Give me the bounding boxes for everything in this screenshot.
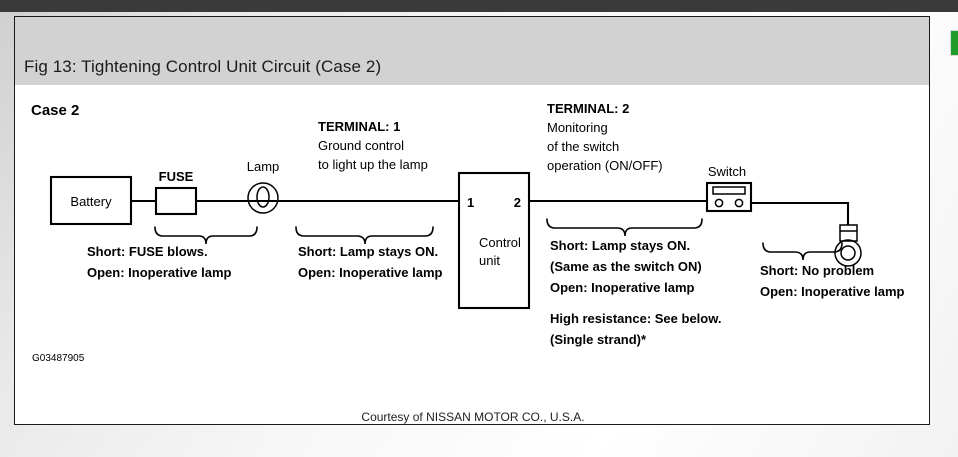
courtesy-notice: Courtesy of NISSAN MOTOR CO., U.S.A.: [15, 410, 930, 424]
fuse-label: FUSE: [159, 169, 194, 184]
switch-annotation-line-3: Open: Inoperative lamp: [550, 280, 695, 295]
figure-panel: Fig 13: Tightening Control Unit Circuit …: [14, 16, 930, 425]
ground-bolt-head-icon: [840, 225, 857, 241]
terminal1-line3: to light up the lamp: [318, 157, 428, 172]
ground-annotation-line-1: Short: No problem: [760, 263, 874, 278]
fuse-box: [156, 188, 196, 214]
browser-viewport: Fig 13: Tightening Control Unit Circuit …: [0, 0, 958, 457]
brace-fuse-section: [155, 227, 257, 244]
terminal2-line4: operation (ON/OFF): [547, 158, 663, 173]
circuit-diagram: Case 2 Battery FUSE Lamp TERMINAL: 1 G: [15, 85, 930, 425]
brace-ground-section: [763, 243, 842, 260]
fuse-annotation-line-1: Short: FUSE blows.: [87, 244, 208, 259]
terminal2-line2: Monitoring: [547, 120, 608, 135]
lamp-annotation-line-2: Open: Inoperative lamp: [298, 265, 443, 280]
brace-lamp-section: [296, 227, 433, 244]
terminal2-line3: of the switch: [547, 139, 619, 154]
lamp-label: Lamp: [247, 159, 280, 174]
window-top-bar: [0, 0, 958, 12]
figure-body: Case 2 Battery FUSE Lamp TERMINAL: 1 G: [15, 85, 929, 425]
control-unit-label-line1: Control: [479, 235, 521, 250]
lamp-annotation-line-1: Short: Lamp stays ON.: [298, 244, 438, 259]
wire-switch-to-ground: [751, 203, 848, 225]
green-edge-tab[interactable]: [950, 30, 958, 56]
control-unit-label-line2: unit: [479, 253, 500, 268]
figure-title: Fig 13: Tightening Control Unit Circuit …: [24, 57, 381, 77]
brace-switch-section: [547, 219, 702, 236]
switch-annotation-line-2: (Same as the switch ON): [550, 259, 702, 274]
ground-ring-inner-icon: [841, 246, 855, 260]
switch-extra-line-2: (Single strand)*: [550, 332, 647, 347]
lamp-filament-icon: [257, 187, 269, 207]
control-unit-pin-1: 1: [467, 195, 474, 210]
terminal2-heading: TERMINAL: 2: [547, 101, 629, 116]
control-unit-pin-2: 2: [514, 195, 521, 210]
battery-label: Battery: [70, 194, 112, 209]
fuse-annotation-line-2: Open: Inoperative lamp: [87, 265, 232, 280]
case-label: Case 2: [31, 102, 79, 119]
ground-annotation-line-2: Open: Inoperative lamp: [760, 284, 905, 299]
terminal1-line2: Ground control: [318, 138, 404, 153]
switch-label: Switch: [708, 164, 746, 179]
terminal1-heading: TERMINAL: 1: [318, 119, 400, 134]
drawing-code: G03487905: [32, 353, 85, 364]
switch-extra-line-1: High resistance: See below.: [550, 311, 721, 326]
switch-annotation-line-1: Short: Lamp stays ON.: [550, 238, 690, 253]
